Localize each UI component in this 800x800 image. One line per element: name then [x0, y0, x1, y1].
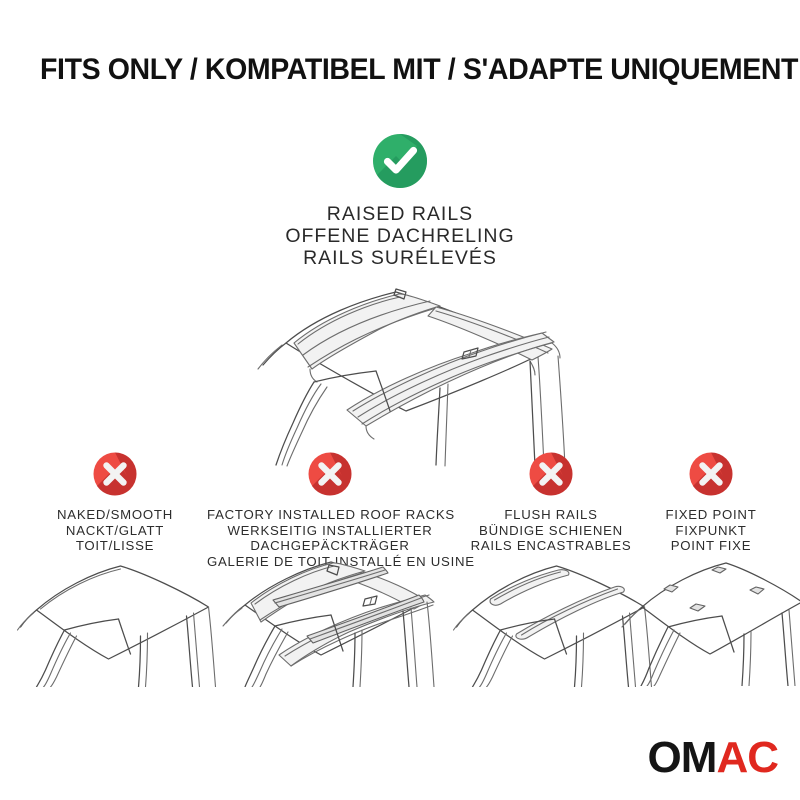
cross-circle-icon — [93, 452, 137, 496]
compatible-label-en: RAISED RAILS — [0, 203, 800, 225]
incompatible-item-naked-smooth: NAKED/SMOOTH NACKT/GLATT TOIT/LISSE — [15, 452, 215, 554]
label-line-de: FIXPUNKT — [641, 523, 781, 539]
incompatible-labels: NAKED/SMOOTH NACKT/GLATT TOIT/LISSE — [15, 507, 215, 554]
incompatible-item-fixed-point: FIXED POINT FIXPUNKT POINT FIXE — [641, 452, 781, 554]
label-line-de: NACKT/GLATT — [15, 523, 215, 539]
incompatible-labels: FLUSH RAILS BÜNDIGE SCHIENEN RAILS ENCAS… — [451, 507, 651, 554]
label-line-en: FACTORY INSTALLED ROOF RACKS — [207, 507, 453, 523]
compatible-section: RAISED RAILS OFFENE DACHRELING RAILS SUR… — [0, 133, 800, 269]
car-roof-fixed-points-illustration — [616, 552, 800, 686]
label-line-de: BÜNDIGE SCHIENEN — [451, 523, 651, 539]
incompatible-labels: FIXED POINT FIXPUNKT POINT FIXE — [641, 507, 781, 554]
page-title: FITS ONLY / KOMPATIBEL MIT / S'ADAPTE UN… — [40, 53, 743, 87]
car-roof-naked-smooth-illustration — [13, 557, 218, 687]
car-roof-with-raised-rails-illustration — [190, 283, 620, 468]
car-roof-with-factory-crossbars-illustration — [215, 545, 445, 687]
compatible-label-fr: RAILS SURÉLEVÉS — [0, 247, 800, 269]
label-line-en: NAKED/SMOOTH — [15, 507, 215, 523]
logo-text-dark: OM — [648, 733, 717, 782]
compatible-labels: RAISED RAILS OFFENE DACHRELING RAILS SUR… — [0, 203, 800, 269]
incompatible-item-flush-rails: FLUSH RAILS BÜNDIGE SCHIENEN RAILS ENCAS… — [451, 452, 651, 554]
fitment-infographic: FITS ONLY / KOMPATIBEL MIT / S'ADAPTE UN… — [0, 0, 800, 800]
incompatible-item-factory-roof-racks: FACTORY INSTALLED ROOF RACKS WERKSEITIG … — [207, 452, 453, 569]
label-line-fr: TOIT/LISSE — [15, 538, 215, 554]
cross-circle-icon — [308, 452, 352, 496]
logo-text-red: AC — [716, 733, 778, 782]
label-line-en: FIXED POINT — [641, 507, 781, 523]
cross-circle-icon — [689, 452, 733, 496]
label-line-de-1: WERKSEITIG INSTALLIERTER — [207, 523, 453, 539]
compatible-label-de: OFFENE DACHRELING — [0, 225, 800, 247]
check-circle-icon — [372, 133, 428, 189]
label-line-en: FLUSH RAILS — [451, 507, 651, 523]
cross-circle-icon — [529, 452, 573, 496]
omac-logo: OMAC — [648, 736, 778, 780]
